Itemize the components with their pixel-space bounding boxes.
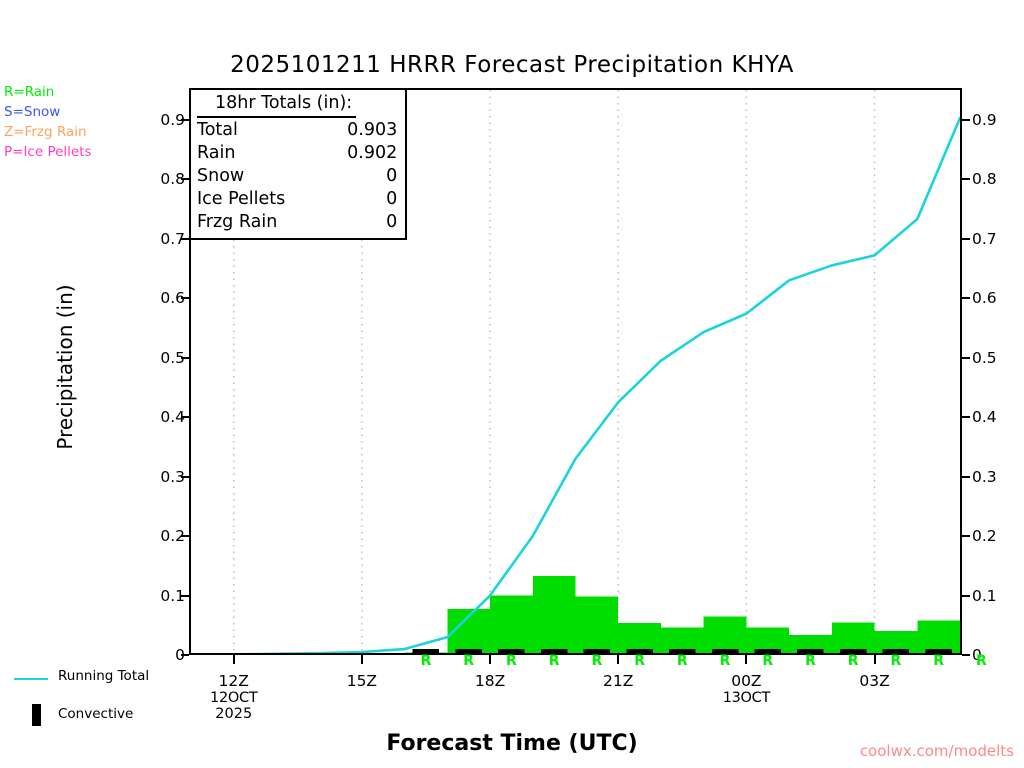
totals-value-ice-pellets: 0 <box>319 188 397 211</box>
totals-box-header: 18hr Totals (in): <box>197 92 356 118</box>
ptype-marker: R <box>677 653 688 669</box>
watermark: coolwx.com/modelts <box>0 742 1014 760</box>
y-tick-mark <box>962 357 970 359</box>
ptype-marker: R <box>848 653 859 669</box>
ptype-marker: R <box>506 653 517 669</box>
y-tick-label-left: 0.6 <box>139 289 185 307</box>
y-tick-mark <box>181 119 189 121</box>
y-tick-mark <box>181 297 189 299</box>
y-tick-mark <box>962 119 970 121</box>
ptype-legend-ice-pellets: P=Ice Pellets <box>4 142 92 162</box>
ptype-marker: R <box>933 653 944 669</box>
convective-label: Convective <box>58 706 133 722</box>
ptype-marker: R <box>463 653 474 669</box>
y-tick-mark <box>181 178 189 180</box>
ptype-legend-rain: R=Rain <box>4 82 92 102</box>
totals-label-ice-pellets: Ice Pellets <box>197 188 319 211</box>
totals-row-snow: Snow 0 <box>197 165 397 188</box>
y-tick-label-right: 0.4 <box>972 408 1022 426</box>
totals-row-ice-pellets: Ice Pellets 0 <box>197 188 397 211</box>
y-tick-label-left: 0.9 <box>139 111 185 129</box>
y-tick-label-right: 0.7 <box>972 230 1022 248</box>
y-axis-title: Precipitation (in) <box>53 217 77 517</box>
page-title: 2025101211 HRRR Forecast Precipitation K… <box>0 52 1024 78</box>
ptype-marker: R <box>891 653 902 669</box>
y-tick-label-right: 0.9 <box>972 111 1022 129</box>
y-tick-mark <box>962 297 970 299</box>
totals-table: Total 0.903 Rain 0.902 Snow 0 Ice Pellet… <box>197 119 397 234</box>
y-tick-mark <box>181 357 189 359</box>
totals-value-total: 0.903 <box>319 119 397 142</box>
x-tick-label: 00Z13OCT <box>686 672 806 706</box>
totals-value-snow: 0 <box>319 165 397 188</box>
y-tick-mark <box>962 178 970 180</box>
y-tick-label-left: 0.3 <box>139 468 185 486</box>
ptype-marker: R <box>634 653 645 669</box>
y-tick-label-left: 0.8 <box>139 170 185 188</box>
totals-label-total: Total <box>197 119 319 142</box>
y-tick-mark <box>962 476 970 478</box>
ptype-marker: R <box>591 653 602 669</box>
totals-label-rain: Rain <box>197 142 319 165</box>
ptype-marker: R <box>720 653 731 669</box>
totals-row-frzg-rain: Frzg Rain 0 <box>197 211 397 234</box>
y-tick-mark <box>962 416 970 418</box>
ptype-marker: R <box>762 653 773 669</box>
y-tick-label-right: 0.3 <box>972 468 1022 486</box>
y-tick-label-left: 0.7 <box>139 230 185 248</box>
precip-type-legend: R=Rain S=Snow Z=Frzg Rain P=Ice Pellets <box>4 82 92 162</box>
totals-box: 18hr Totals (in): Total 0.903 Rain 0.902… <box>191 90 407 240</box>
y-tick-mark <box>181 476 189 478</box>
totals-label-frzg-rain: Frzg Rain <box>197 211 319 234</box>
y-tick-mark <box>181 595 189 597</box>
y-tick-mark <box>181 416 189 418</box>
y-tick-label-left: 0 <box>139 646 185 664</box>
ptype-marker: R <box>421 653 432 669</box>
y-tick-mark <box>962 654 970 656</box>
y-tick-mark <box>181 654 189 656</box>
ptype-marker: R <box>549 653 560 669</box>
y-tick-label-right: 0.5 <box>972 349 1022 367</box>
totals-row-rain: Rain 0.902 <box>197 142 397 165</box>
running-total-line-swatch <box>14 678 48 680</box>
y-tick-label-left: 0.1 <box>139 587 185 605</box>
running-total-label: Running Total <box>58 668 149 684</box>
totals-value-frzg-rain: 0 <box>319 211 397 234</box>
y-tick-label-right: 0.2 <box>972 527 1022 545</box>
legend-convective: Convective <box>10 703 180 727</box>
y-tick-label-left: 0.5 <box>139 349 185 367</box>
x-tick-label: 12Z12OCT2025 <box>174 672 294 722</box>
y-tick-label-right: 0.6 <box>972 289 1022 307</box>
y-tick-mark <box>962 238 970 240</box>
y-tick-label-right: 0.8 <box>972 170 1022 188</box>
precip-type-row: RRRRRRRRRRRRRR <box>191 653 960 675</box>
y-tick-label-left: 0.4 <box>139 408 185 426</box>
y-tick-mark <box>962 535 970 537</box>
y-tick-label-left: 0.2 <box>139 527 185 545</box>
totals-label-snow: Snow <box>197 165 319 188</box>
y-tick-label-right: 0.1 <box>972 587 1022 605</box>
ptype-legend-frzg-rain: Z=Frzg Rain <box>4 122 92 142</box>
y-tick-mark <box>962 595 970 597</box>
convective-bar-swatch <box>32 704 41 726</box>
y-tick-mark <box>181 535 189 537</box>
totals-row-total: Total 0.903 <box>197 119 397 142</box>
ptype-marker: R <box>805 653 816 669</box>
legend-running-total: Running Total <box>10 668 180 690</box>
ptype-marker: R <box>976 653 987 669</box>
ptype-legend-snow: S=Snow <box>4 102 92 122</box>
y-tick-mark <box>181 238 189 240</box>
totals-value-rain: 0.902 <box>319 142 397 165</box>
